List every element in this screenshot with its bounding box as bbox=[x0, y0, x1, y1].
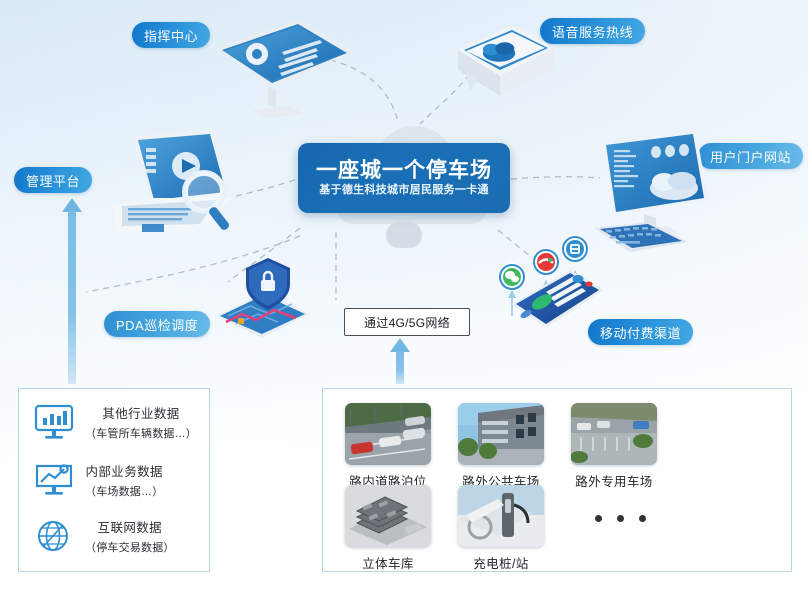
scenario-caption: 充电桩/站 bbox=[473, 553, 528, 572]
center-title: 一座城一个停车场 bbox=[316, 160, 492, 181]
data-source-row[interactable]: 互联网数据 （停车交易数据） bbox=[33, 517, 175, 555]
command-center-device bbox=[212, 14, 362, 126]
public-parking-lot-photo bbox=[458, 403, 544, 465]
data-source-row[interactable]: 其他行业数据 （车管所车辆数据…） bbox=[33, 403, 197, 441]
data-source-row[interactable]: 内部业务数据 （车场数据…） bbox=[33, 461, 163, 499]
monitor-line-chart-icon bbox=[33, 461, 75, 499]
network-note: 通过4G/5G网络 bbox=[344, 308, 470, 336]
label-command-center[interactable]: 指挥中心 bbox=[132, 22, 210, 48]
multi-level-garage-photo bbox=[345, 485, 431, 547]
user-portal-device bbox=[592, 124, 718, 260]
label-management-platform[interactable]: 管理平台 bbox=[14, 167, 92, 193]
scenario-card[interactable]: 立体车库 bbox=[345, 485, 431, 572]
data-source-title: 内部业务数据 bbox=[86, 461, 163, 480]
ev-charging-station-photo bbox=[458, 485, 544, 547]
scenario-caption: 路外专用车场 bbox=[575, 471, 652, 490]
globe-network-icon bbox=[33, 517, 75, 555]
scenario-card[interactable]: 路外公共车场 bbox=[458, 403, 544, 490]
data-sources-panel: 其他行业数据 （车管所车辆数据…） 内部业务数据 （车场数据…） bbox=[18, 388, 210, 572]
data-source-title: 互联网数据 bbox=[98, 517, 163, 536]
data-source-title: 其他行业数据 bbox=[102, 403, 179, 422]
scenario-card[interactable]: 路内道路泊位 bbox=[345, 403, 431, 490]
app-blue-icon bbox=[560, 234, 590, 264]
on-street-parking-photo bbox=[345, 403, 431, 465]
scenario-more-indicator bbox=[595, 515, 646, 522]
scenario-card[interactable]: 充电桩/站 bbox=[458, 485, 544, 572]
scenario-card[interactable]: 路外专用车场 bbox=[571, 403, 657, 490]
diagram-canvas: 指挥中心 语音服务热线 bbox=[0, 0, 808, 590]
monitor-bar-chart-icon bbox=[33, 403, 75, 441]
voice-hotline-device bbox=[452, 22, 560, 114]
center-subtitle: 基于德生科技城市居民服务一卡通 bbox=[319, 185, 489, 196]
center-banner: 一座城一个停车场 基于德生科技城市居民服务一卡通 bbox=[298, 143, 510, 213]
scenario-caption: 立体车库 bbox=[362, 553, 414, 572]
network-up-arrow bbox=[386, 338, 414, 384]
wechat-app-icon bbox=[497, 262, 527, 292]
data-source-note: （车管所车辆数据…） bbox=[85, 425, 197, 441]
dedicated-parking-lot-photo bbox=[571, 403, 657, 465]
data-source-note: （车场数据…） bbox=[85, 483, 163, 499]
alipay-app-icon bbox=[531, 247, 561, 277]
data-source-note: （停车交易数据） bbox=[85, 539, 175, 555]
label-pda-inspection[interactable]: PDA巡检调度 bbox=[104, 311, 210, 337]
scenarios-panel: 路内道路泊位 bbox=[322, 388, 792, 572]
management-laptop-device bbox=[96, 128, 242, 252]
pda-shield-device bbox=[212, 252, 340, 342]
data-flow-up-arrow bbox=[58, 198, 86, 384]
